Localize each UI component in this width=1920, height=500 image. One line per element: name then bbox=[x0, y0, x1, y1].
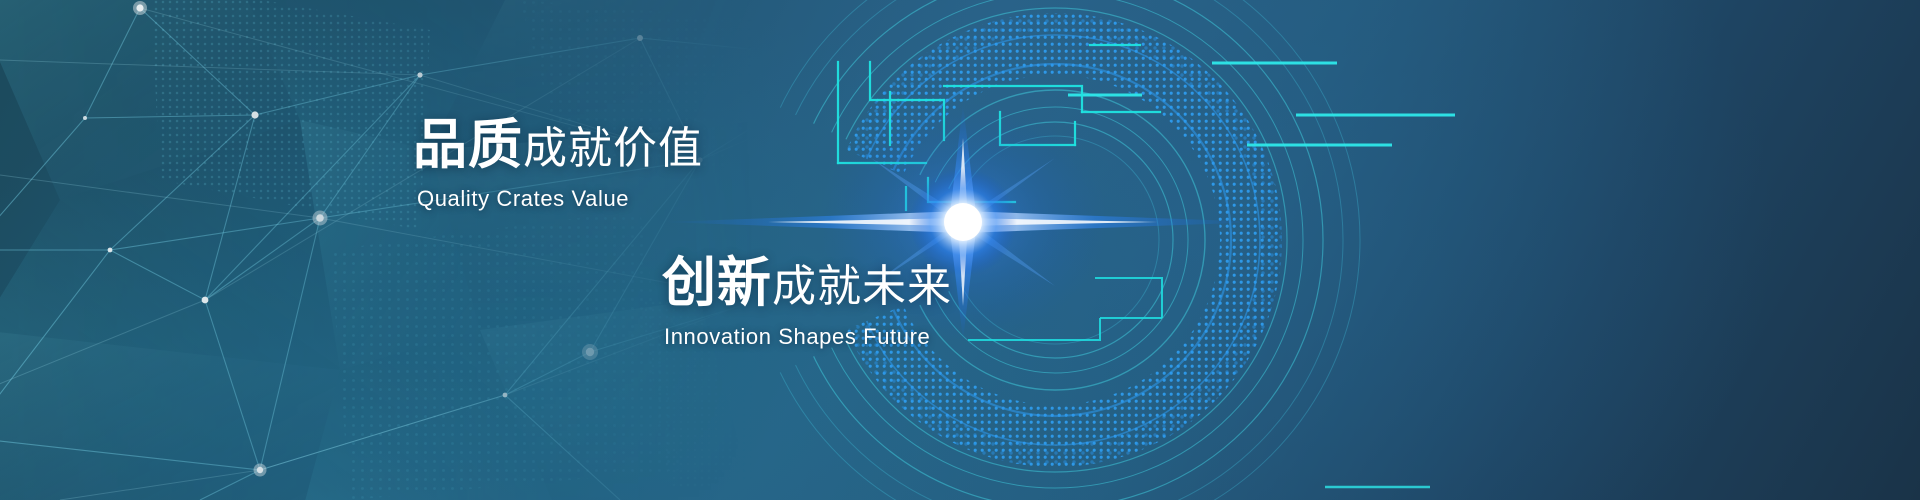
slogan-quality-cn-light: 成就价值 bbox=[523, 124, 703, 173]
slogan-innovation-cn-light: 成就未来 bbox=[772, 262, 952, 311]
slogan-innovation-cn: 创新成就未来 bbox=[662, 256, 952, 310]
slogan-quality-cn: 品质成就价值 bbox=[413, 118, 703, 172]
slogan-quality-cn-bold: 品质 bbox=[413, 115, 523, 175]
hero-banner: 品质成就价值 Quality Crates Value 创新成就未来 Innov… bbox=[0, 0, 1920, 500]
slogan-innovation-cn-bold: 创新 bbox=[662, 253, 772, 313]
slogan-quality-en: Quality Crates Value bbox=[417, 188, 703, 210]
slogan-quality: 品质成就价值 Quality Crates Value bbox=[413, 118, 703, 210]
slogan-innovation-en: Innovation Shapes Future bbox=[664, 326, 952, 348]
slogan-innovation: 创新成就未来 Innovation Shapes Future bbox=[662, 256, 952, 348]
lens-flare-star-graphic bbox=[0, 0, 1920, 500]
